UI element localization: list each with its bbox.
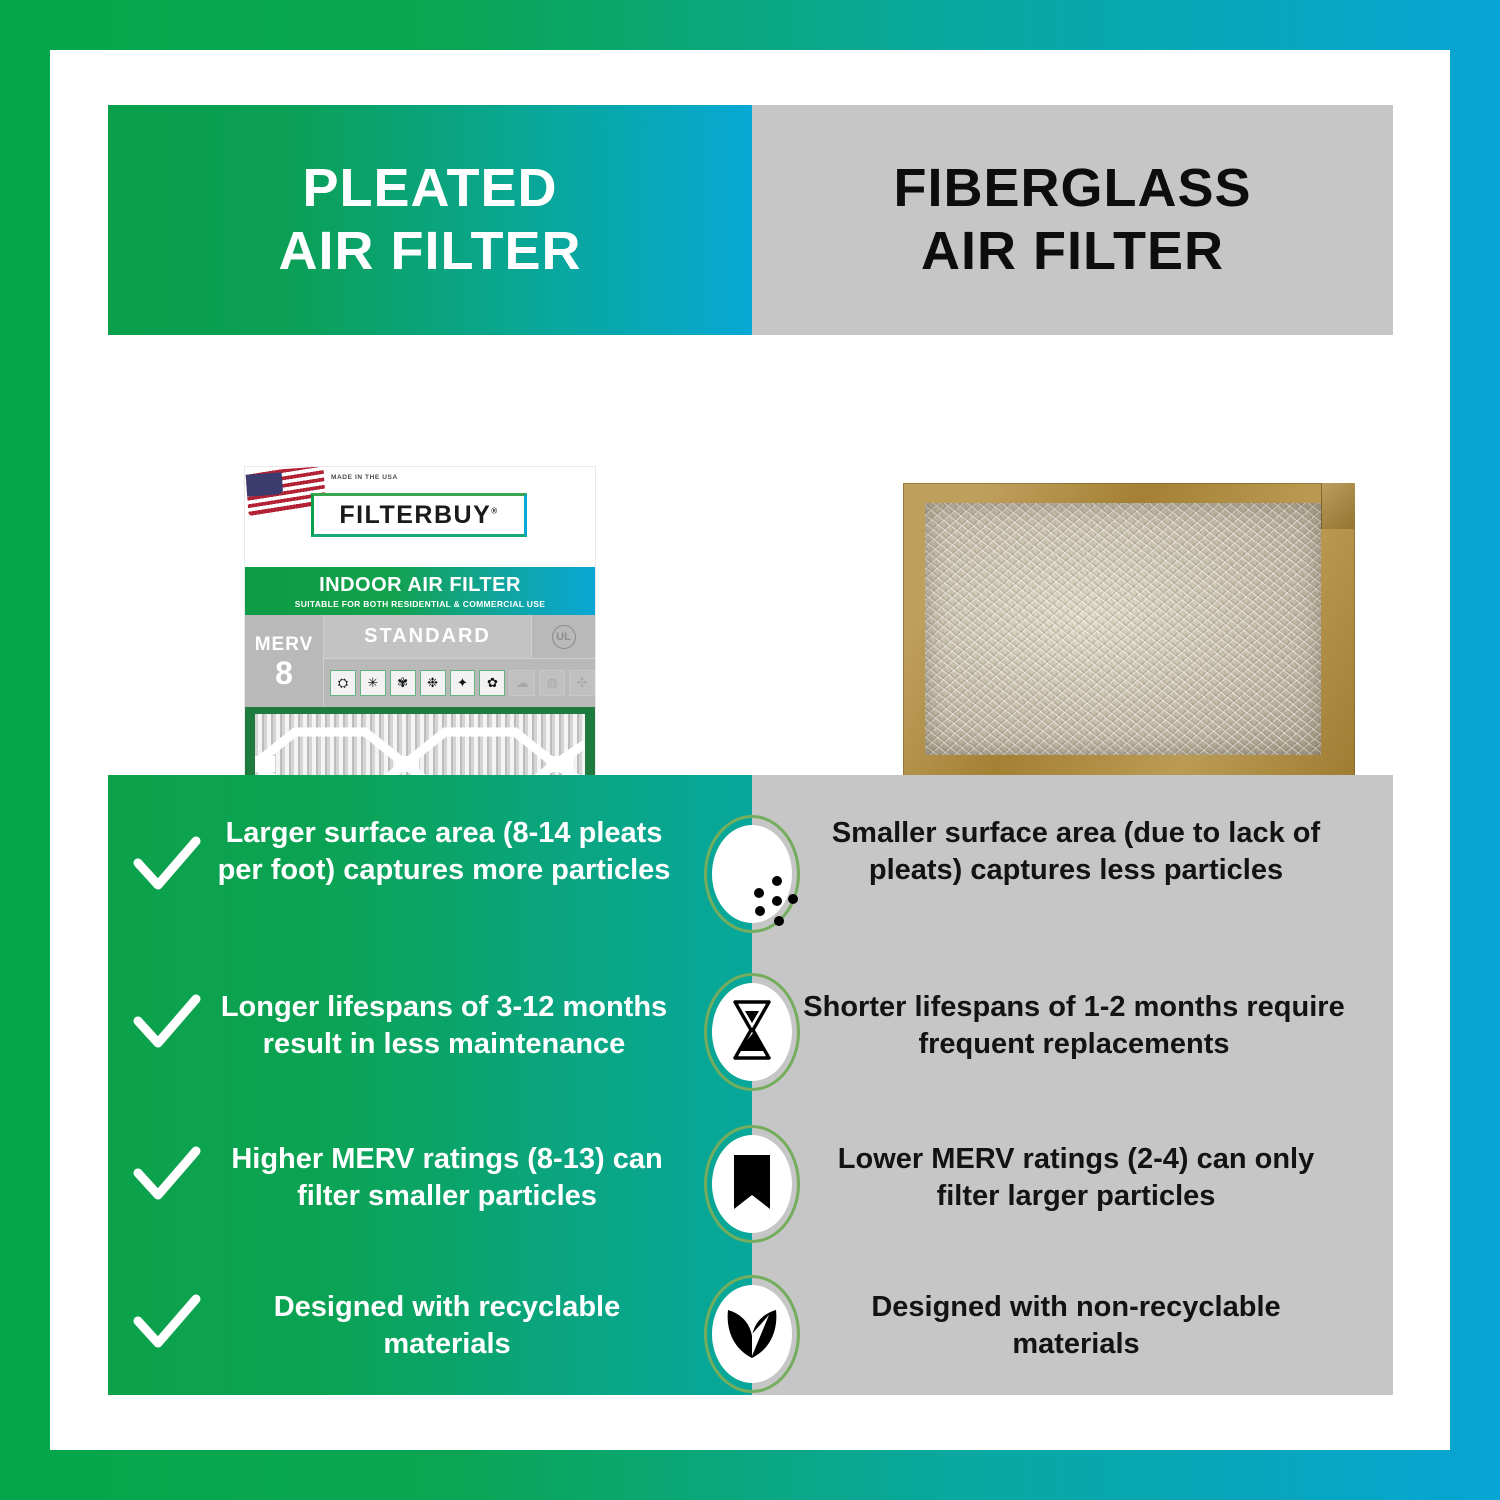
- bookmark-ribbon-icon: [704, 1125, 800, 1243]
- smoke-icon: ☁: [509, 670, 535, 696]
- ul-certification-badge: UL: [531, 615, 595, 659]
- merv-value: 8: [275, 657, 293, 689]
- header-pleated-title: PLEATEDAIR FILTER: [279, 157, 582, 283]
- mold-icon: ❉: [420, 670, 446, 696]
- row-2-left-text: Longer lifespans of 3-12 months result i…: [186, 989, 702, 1063]
- fiberglass-filter-product-image: [903, 483, 1355, 783]
- icon-disc: [712, 825, 792, 923]
- comparison-row: Higher MERV ratings (8-13) can filter sm…: [108, 1115, 1393, 1267]
- product-images-band: MADE IN THE USA FILTERBUY® INDOOR AIR FI…: [108, 335, 1393, 775]
- row-1-right-text: Smaller surface area (due to lack of ple…: [820, 815, 1332, 889]
- merv-rating-block: MERV 8: [245, 615, 323, 707]
- row-4-right-text: Designed with non-recyclable materials: [808, 1289, 1344, 1363]
- checkmark-icon: [130, 1145, 204, 1205]
- box-spec-band: MERV 8 STANDARD UL ⛭ ✳ ✾ ❉ ✦ ✿ ☁: [245, 615, 595, 707]
- banner-title: INDOOR AIR FILTER: [319, 574, 521, 597]
- eco-leaf-icon: [704, 1275, 800, 1393]
- filterbuy-logo-frame: FILTERBUY®: [311, 493, 527, 537]
- header-row: PLEATEDAIR FILTER FIBERGLASSAIR FILTER: [108, 105, 1393, 335]
- header-pleated-line2: AIR FILTER: [279, 221, 582, 281]
- row-4-left-text: Designed with recyclable materials: [212, 1289, 682, 1363]
- fiberglass-media: [925, 503, 1321, 755]
- bacteria-icon: ◍: [539, 670, 565, 696]
- merv-label: MERV: [255, 634, 314, 656]
- comparison-row: Larger surface area (8-14 pleats per foo…: [108, 797, 1393, 957]
- virus-icon: ✣: [569, 670, 595, 696]
- row-2-right-text: Shorter lifespans of 1-2 months require …: [798, 989, 1350, 1063]
- comparison-panel: Larger surface area (8-14 pleats per foo…: [108, 775, 1393, 1395]
- banner-subtitle: SUITABLE FOR BOTH RESIDENTIAL & COMMERCI…: [295, 599, 545, 609]
- capture-icons-row: ⛭ ✳ ✾ ❉ ✦ ✿ ☁ ◍ ✣: [323, 659, 595, 707]
- hourglass-glyph: [729, 999, 775, 1066]
- header-fiberglass-line1: FIBERGLASS: [893, 158, 1251, 218]
- outer-white-frame: PLEATEDAIR FILTER FIBERGLASSAIR FILTER M…: [50, 50, 1450, 1450]
- box-top-section: MADE IN THE USA FILTERBUY®: [245, 467, 595, 567]
- filterbuy-logo: FILTERBUY®: [339, 501, 498, 530]
- pollen-icon: ✾: [390, 670, 416, 696]
- comparison-row: Longer lifespans of 3-12 months result i…: [108, 963, 1393, 1115]
- checkmark-icon: [130, 835, 204, 895]
- leaf-glyph: [724, 1304, 780, 1365]
- hourglass-icon: [704, 973, 800, 1091]
- row-1-left-text: Larger surface area (8-14 pleats per foo…: [204, 815, 684, 889]
- comparison-row: Designed with recyclable materials Desig…: [108, 1267, 1393, 1407]
- checkmark-icon: [130, 1293, 204, 1353]
- dust-lint-icon: ⛭: [330, 670, 356, 696]
- cardboard-corner-tab: [1321, 483, 1355, 529]
- header-fiberglass: FIBERGLASSAIR FILTER: [752, 105, 1393, 335]
- lint-icon: ✦: [450, 670, 476, 696]
- bookmark-glyph: [732, 1153, 772, 1216]
- pet-dander-icon: ✿: [479, 670, 505, 696]
- filterbuy-logo-text: FILTERBUY: [339, 501, 491, 529]
- indoor-air-filter-banner: INDOOR AIR FILTER SUITABLE FOR BOTH RESI…: [245, 567, 595, 615]
- grade-label: STANDARD: [323, 615, 531, 659]
- row-3-left-text: Higher MERV ratings (8-13) can filter sm…: [200, 1141, 694, 1215]
- made-in-usa-label: MADE IN THE USA: [331, 473, 401, 483]
- header-pleated-line1: PLEATED: [302, 158, 557, 218]
- header-fiberglass-line2: AIR FILTER: [921, 221, 1224, 281]
- dust-mites-icon: ✳: [360, 670, 386, 696]
- trademark-symbol: ®: [491, 506, 498, 515]
- header-fiberglass-title: FIBERGLASSAIR FILTER: [893, 157, 1251, 283]
- infographic-content: PLEATEDAIR FILTER FIBERGLASSAIR FILTER M…: [108, 105, 1393, 1395]
- header-pleated: PLEATEDAIR FILTER: [108, 105, 752, 335]
- particles-dots-icon: [704, 815, 800, 933]
- row-3-right-text: Lower MERV ratings (2-4) can only filter…: [808, 1141, 1344, 1215]
- ul-mark-icon: UL: [552, 625, 576, 649]
